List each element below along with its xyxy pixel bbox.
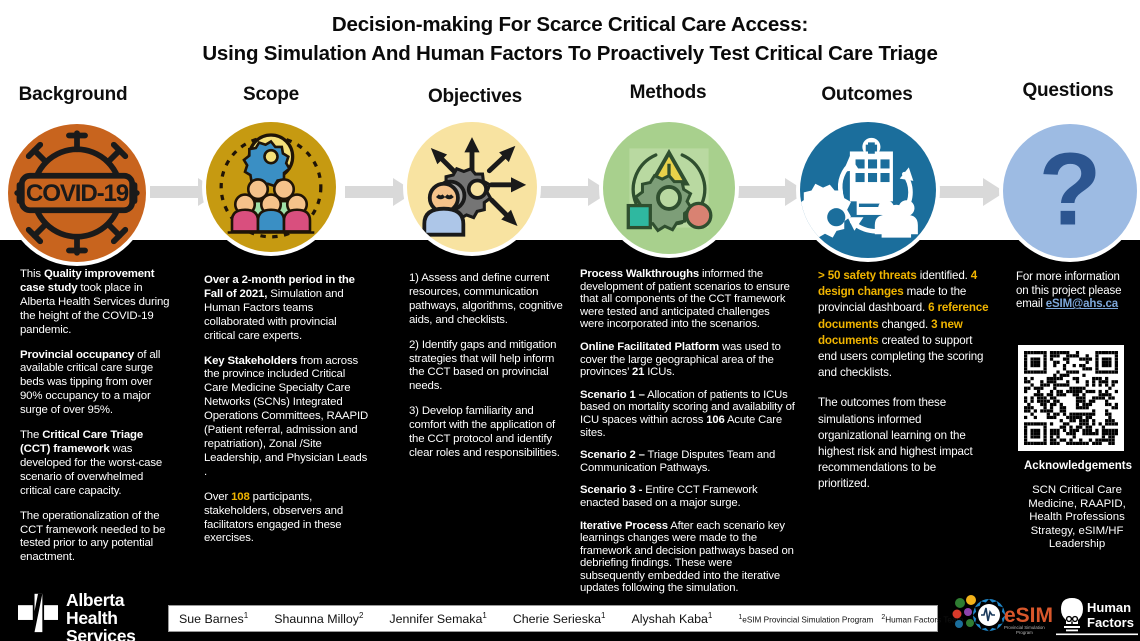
acknowledgements-title: Acknowledgements [1008, 460, 1140, 472]
hospital-gears-people-icon [800, 122, 936, 258]
bg-para-2: Provincial occupancy of all available cr… [20, 349, 172, 419]
scope-para-1: Over a 2-month period in the Fall of 202… [204, 274, 370, 344]
svg-text:eSIM: eSIM [1004, 604, 1053, 627]
obj-para-1: 1) Assess and define current resources, … [409, 272, 567, 328]
methods-para-3: Scenario 1 – Allocation of patients to I… [580, 389, 796, 439]
bg-para-4: The operationalization of the CCT framew… [20, 510, 172, 566]
scope-para-3: Over 108 participants, stakeholders, obs… [204, 491, 370, 547]
svg-text:Human: Human [1087, 600, 1131, 615]
column-body-background: This Quality improvement case study took… [20, 268, 172, 565]
qr-code-icon[interactable] [1018, 345, 1124, 451]
author-1: Sue Barnes1 [179, 611, 248, 626]
column-body-outcomes: > 50 safety threats identified. 4 design… [818, 268, 990, 507]
alberta-health-services-logo: Alberta Health Services [8, 588, 173, 636]
ahs-line-2: Services [66, 627, 173, 641]
flow-arrow-4 [737, 178, 807, 206]
affiliation-1: 1eSIM Provincial Simulation Program [738, 614, 873, 625]
section-heading-background: Background [0, 84, 146, 106]
obj-para-2: 2) Identify gaps and mitigation strategi… [409, 339, 567, 395]
section-heading-objectives: Objectives [400, 86, 550, 108]
methods-para-4: Scenario 2 – Triage Disputes Team and Co… [580, 449, 796, 474]
author-bar: Sue Barnes1 Shaunna Milloy2 Jennifer Sem… [168, 605, 938, 632]
question-mark-icon: ? [1003, 124, 1137, 258]
title-line-2: Using Simulation And Human Factors To Pr… [0, 39, 1140, 68]
svg-text:?: ? [1039, 132, 1102, 247]
person-gear-arrows-icon [407, 122, 537, 252]
human-factors-lightbulb-logo: Human Factors [1056, 592, 1138, 638]
bg-para-3: The Critical Care Triage (CCT) framework… [20, 429, 172, 499]
ahs-wordmark: Alberta Health Services [66, 591, 173, 641]
flow-arrow-3 [540, 178, 610, 206]
title-line-1: Decision-making For Scarce Critical Care… [0, 10, 1140, 39]
methods-para-5: Scenario 3 - Entire CCT Framework enacte… [580, 484, 796, 509]
scope-para-2: Key Stakeholders from across the provinc… [204, 355, 370, 480]
poster-title: Decision-making For Scarce Critical Care… [0, 10, 1140, 68]
methods-para-1: Process Walkthroughs informed the develo… [580, 268, 796, 331]
column-body-scope: Over a 2-month period in the Fall of 202… [204, 274, 370, 546]
column-body-questions: For more information on this project ple… [1016, 271, 1134, 312]
column-body-objectives: 1) Assess and define current resources, … [409, 272, 567, 461]
poster-canvas: Decision-making For Scarce Critical Care… [0, 0, 1140, 641]
acknowledgements-body: SCN Critical Care Medicine, RAAPID, Heal… [1016, 484, 1138, 552]
flow-arrow-5 [935, 178, 1005, 206]
outcomes-para-2: The outcomes from these simulations info… [818, 395, 990, 492]
flow-arrow-2 [345, 178, 415, 206]
stakeholders-gear-icon [206, 122, 336, 252]
section-heading-questions: Questions [995, 80, 1140, 102]
author-3: Jennifer Semaka1 [389, 611, 486, 626]
outcomes-stats: > 50 safety threats identified. 4 design… [818, 268, 990, 381]
ahs-line-1: Alberta Health [66, 591, 173, 627]
author-5: Alyshah Kaba1 [631, 611, 712, 626]
bg-para-1: This Quality improvement case study took… [20, 268, 172, 338]
email-link[interactable]: eSIM@ahs.ca [1046, 298, 1118, 310]
esim-logo: eSIM Provincial Simulation Program [948, 592, 1053, 638]
obj-para-3: 3) Develop familiarity and comfort with … [409, 405, 567, 461]
svg-text:COVID-19: COVID-19 [26, 180, 129, 207]
covid-virus-icon: COVID-19 [8, 124, 146, 262]
section-heading-methods: Methods [595, 82, 741, 104]
author-2: Shaunna Milloy2 [274, 611, 363, 626]
svg-text:Program: Program [1016, 630, 1033, 635]
author-4: Cherie Serieska1 [513, 611, 606, 626]
svg-text:Factors: Factors [1087, 615, 1134, 630]
methods-para-2: Online Facilitated Platform was used to … [580, 341, 796, 379]
methods-para-6: Iterative Process After each scenario ke… [580, 520, 796, 596]
section-heading-scope: Scope [200, 84, 342, 106]
column-body-methods: Process Walkthroughs informed the develo… [580, 268, 796, 605]
section-heading-outcomes: Outcomes [790, 84, 944, 106]
process-cycle-gear-icon [603, 122, 735, 254]
questions-intro: For more information on this project ple… [1016, 271, 1134, 312]
